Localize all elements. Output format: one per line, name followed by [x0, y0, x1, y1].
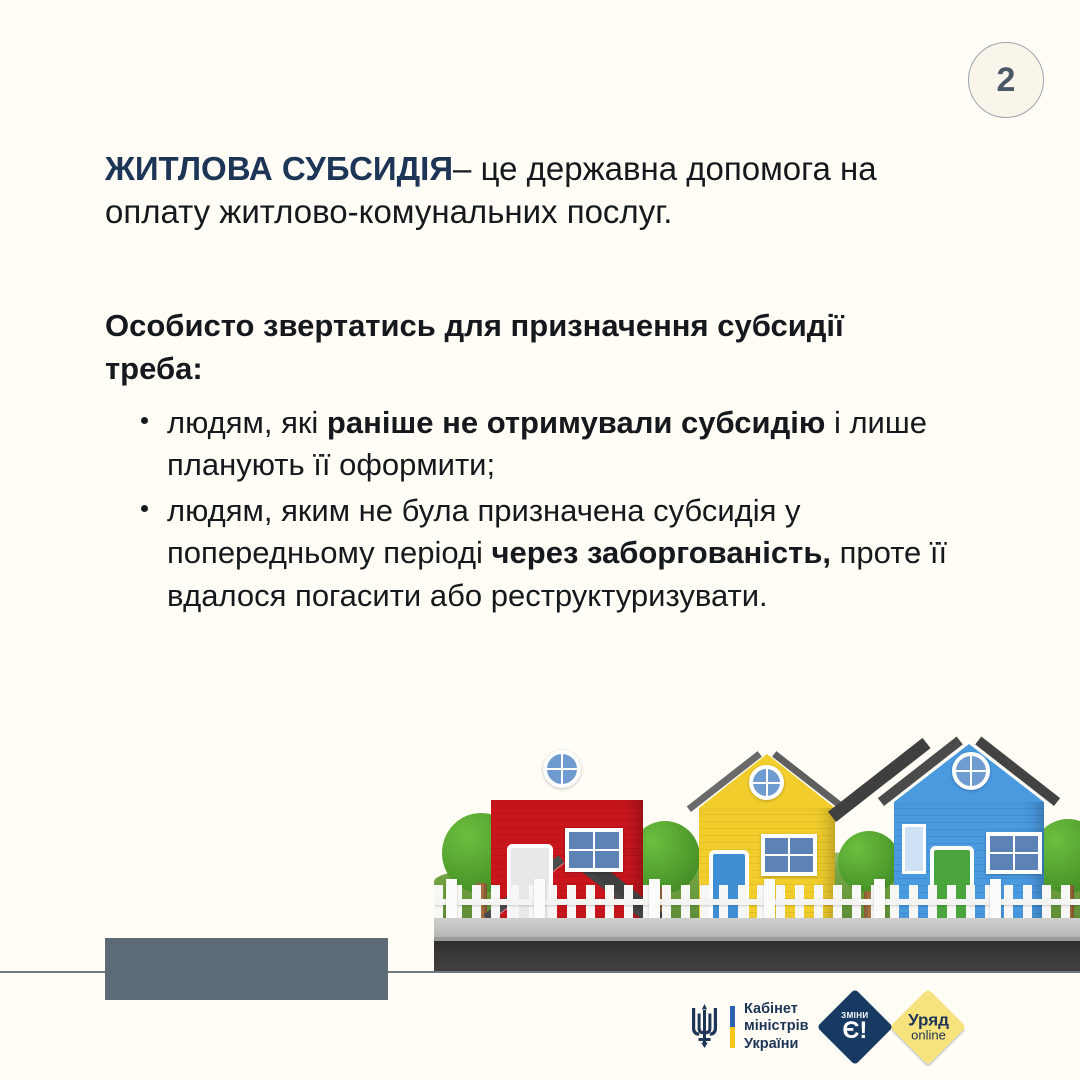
sidewalk [434, 918, 1080, 937]
bullet-dot-icon [141, 505, 148, 512]
flag-divider-bar [730, 1006, 735, 1048]
tree-crown [838, 831, 900, 893]
window-mullion-h [990, 852, 1038, 854]
red-house-attic-window [543, 750, 581, 788]
lede-highlight: ЖИТЛОВА СУБСИДІЯ [105, 150, 453, 187]
blue-house-side-window [902, 824, 926, 874]
blue-house-window [986, 832, 1042, 874]
yellow-house-window [761, 834, 817, 876]
blue-house-attic-window [952, 752, 990, 790]
gray-decoration-block [105, 938, 388, 1000]
list-item: людям, яким не була призначена субсидія … [138, 490, 968, 616]
cabinet-of-ministers-logo: КабінетміністрівУкраїни [688, 1001, 809, 1052]
uryad-online-logo: Уряд online [889, 989, 965, 1065]
bullet-dot-icon [141, 417, 148, 424]
zminy-ye-logo: ЗМІНИ Є! [816, 989, 892, 1065]
online-label: online [907, 1028, 948, 1042]
logo-row: КабінетміністрівУкраїни ЗМІНИ Є! Уряд on… [688, 996, 955, 1058]
list-item: людям, які раніше не отримували субсидію… [138, 402, 968, 486]
ye-label: Є! [841, 1020, 868, 1043]
slide-canvas: 2 ЖИТЛОВА СУБСИДІЯ– це державна допомога… [0, 0, 1080, 1080]
yellow-house-attic-window [749, 765, 784, 800]
ukraine-trident-icon [688, 1004, 721, 1049]
window-mullion-h [765, 854, 813, 856]
section-subheading: Особисто звертатись для призначення субс… [105, 305, 905, 391]
fence-rail [434, 899, 1080, 905]
list-item-text: людям, які раніше не отримували субсидію… [167, 405, 927, 482]
cabinet-logo-text: КабінетміністрівУкраїни [744, 1001, 809, 1052]
lede-paragraph: ЖИТЛОВА СУБСИДІЯ– це державна допомога н… [105, 148, 985, 234]
uryad-label: Уряд [907, 1011, 948, 1028]
list-item-text: людям, яким не була призначена субсидія … [167, 493, 947, 612]
road [434, 941, 1080, 973]
red-house-window [565, 828, 623, 872]
window-mullion-h [569, 849, 619, 851]
houses-illustration [434, 700, 1080, 973]
bullet-list: людям, які раніше не отримували субсидію… [138, 402, 968, 621]
page-number-badge: 2 [968, 42, 1044, 118]
